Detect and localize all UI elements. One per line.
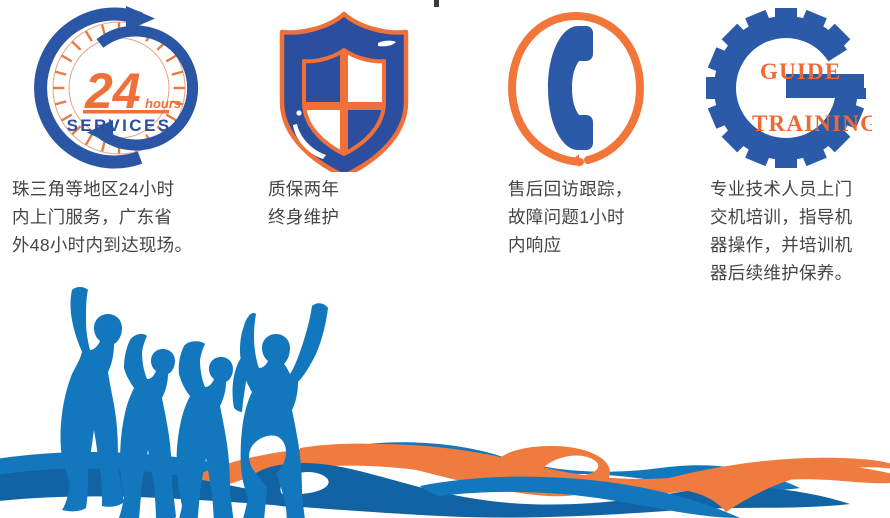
feature-caption: 售后回访跟踪， 故障问题1小时 内响应 xyxy=(470,175,678,259)
icon-container xyxy=(232,0,470,175)
feature-item-warranty: 质保两年 终身维护 xyxy=(232,0,470,290)
bottom-illustration xyxy=(0,280,890,518)
phone-callback-icon xyxy=(500,4,652,172)
feature-caption: 质保两年 终身维护 xyxy=(232,175,470,231)
services-label-text: SERVICES xyxy=(66,116,171,135)
feature-caption: 专业技术人员上门 交机培训，指导机 器操作，并培训机 器后续维护保养。 xyxy=(678,175,890,287)
feature-row: 24 hours SERVICES 珠三角等地区24小时 内上门服务，广东省 外… xyxy=(0,0,890,290)
icon-container: 24 hours SERVICES xyxy=(0,0,232,175)
hours-unit-text: hours xyxy=(145,96,181,111)
phone-handset xyxy=(548,26,593,150)
icon-container xyxy=(470,0,678,175)
feature-item-training: GUIDE TRAINING 专业技术人员上门 交机培训，指导机 器操作，并培训… xyxy=(678,0,890,290)
training-label-text: TRAINING xyxy=(752,111,872,136)
feature-caption: 珠三角等地区24小时 内上门服务，广东省 外48小时内到达现场。 xyxy=(0,175,232,259)
gear-guide-training-icon: GUIDE TRAINING xyxy=(700,4,872,172)
feature-item-24h-service: 24 hours SERVICES 珠三角等地区24小时 内上门服务，广东省 外… xyxy=(0,0,232,290)
person-silhouette-4 xyxy=(240,303,328,518)
24-hours-service-icon: 24 hours SERVICES xyxy=(27,4,212,172)
feature-item-callback: 售后回访跟踪， 故障问题1小时 内响应 xyxy=(470,0,678,290)
page-root: 24 hours SERVICES 珠三角等地区24小时 内上门服务，广东省 外… xyxy=(0,0,890,518)
shield-warranty-icon xyxy=(274,4,414,172)
gear-ring-shape xyxy=(700,4,872,172)
celebrating-people-ribbon-illustration xyxy=(0,280,890,518)
shield-highlight-dot xyxy=(296,110,301,115)
guide-label-text: GUIDE xyxy=(760,59,841,84)
person-4-arm xyxy=(233,354,249,412)
icon-container: GUIDE TRAINING xyxy=(678,0,890,175)
underline-bar xyxy=(83,110,169,114)
